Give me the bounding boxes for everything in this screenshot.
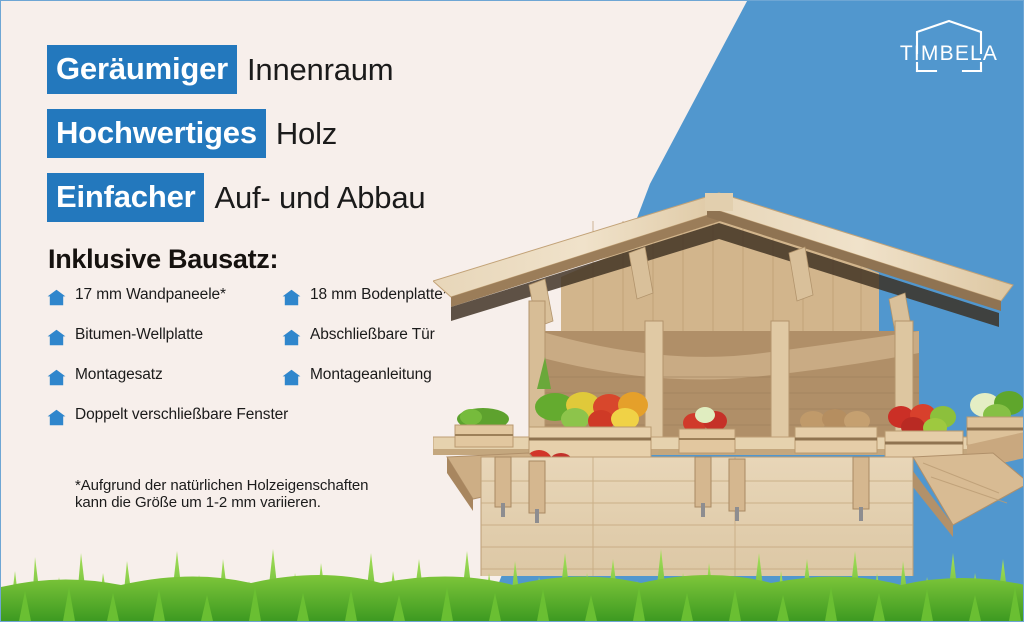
feature-item: 17 mm Wandpaneele*	[47, 286, 282, 306]
headline-rest-1: Innenraum	[237, 54, 393, 85]
feature-item: Bitumen-Wellplatte	[47, 326, 282, 346]
produce-crate	[885, 404, 963, 457]
promotional-banner: TIMBELA Geräumiger Innenraum Hochwertige…	[0, 0, 1024, 622]
product-image	[433, 181, 1024, 576]
feature-label: Doppelt verschließbare Fenster	[75, 406, 288, 423]
headline-highlight-2: Hochwertiges	[47, 109, 266, 158]
headline-rest-2: Holz	[266, 118, 337, 149]
headline-rest-3: Auf- und Abbau	[204, 182, 425, 213]
footnote: *Aufgrund der natürlichen Holzeigenschaf…	[75, 477, 495, 512]
headline-row-2: Hochwertiges Holz	[47, 109, 607, 158]
section-title: Inklusive Bausatz:	[48, 244, 278, 275]
footnote-line-2: kann die Größe um 1-2 mm variieren.	[75, 494, 495, 511]
house-bullet-icon	[282, 329, 301, 346]
feature-item: Montagesatz	[47, 366, 282, 386]
house-bullet-icon	[282, 369, 301, 386]
feature-label: Montageanleitung	[310, 366, 432, 383]
logo-wordmark: TIMBELA	[900, 42, 998, 65]
headline-row-1: Geräumiger Innenraum	[47, 45, 607, 94]
headline-highlight-1: Geräumiger	[47, 45, 237, 94]
feature-label: 18 mm Bodenplatte*	[310, 286, 449, 303]
headline-highlight-3: Einfacher	[47, 173, 204, 222]
feature-label: Bitumen-Wellplatte	[75, 326, 203, 343]
house-bullet-icon	[47, 409, 66, 426]
feature-label: 17 mm Wandpaneele*	[75, 286, 226, 303]
produce-crate	[455, 408, 513, 447]
feature-label: Abschließbare Tür	[310, 326, 435, 343]
footnote-line-1: *Aufgrund der natürlichen Holzeigenschaf…	[75, 477, 495, 494]
grass-strip	[1, 543, 1024, 621]
house-bullet-icon	[47, 329, 66, 346]
house-bullet-icon	[47, 289, 66, 306]
house-bullet-icon	[47, 369, 66, 386]
produce-crate	[795, 409, 877, 453]
feature-label: Montagesatz	[75, 366, 163, 383]
house-bullet-icon	[282, 289, 301, 306]
brand-logo: TIMBELA	[897, 19, 1001, 77]
